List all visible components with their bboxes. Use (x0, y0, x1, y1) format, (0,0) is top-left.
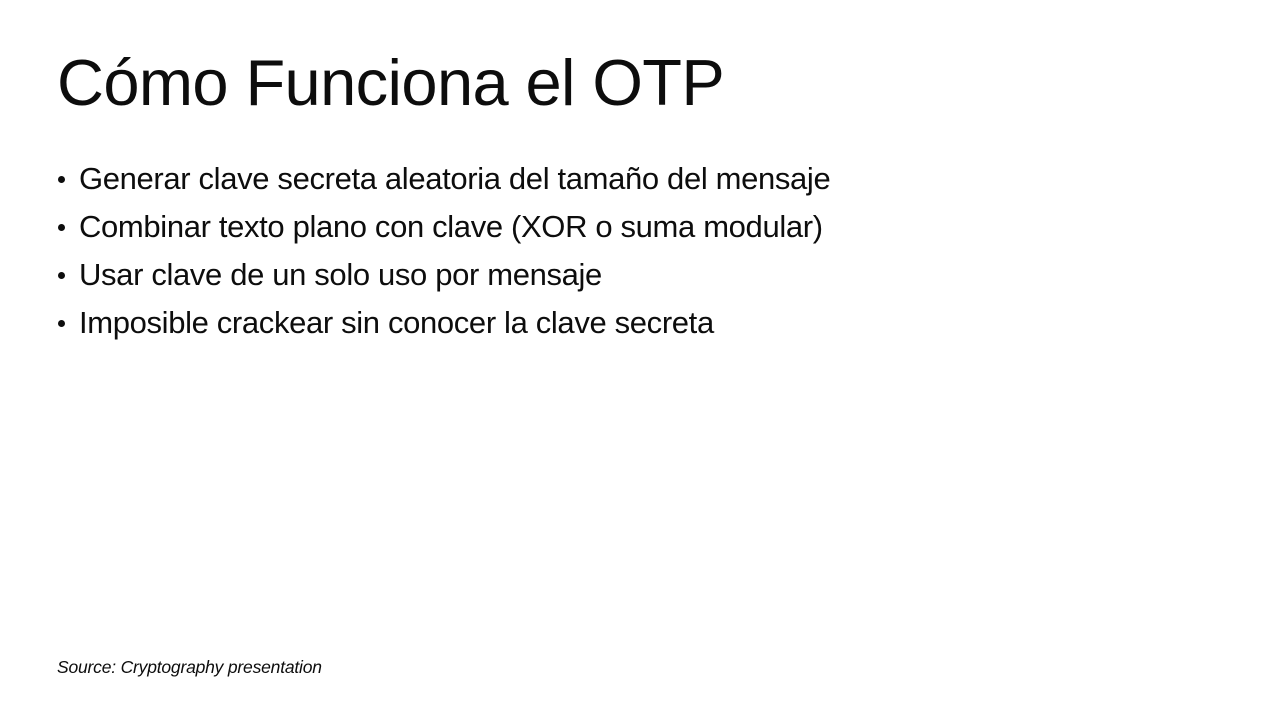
slide-title: Cómo Funciona el OTP (57, 50, 1217, 115)
source-note: Source: Cryptography presentation (57, 657, 322, 678)
list-item-label: Imposible crackear sin conocer la clave … (79, 305, 714, 340)
list-item-label: Generar clave secreta aleatoria del tama… (79, 161, 830, 196)
list-item-label: Combinar texto plano con clave (XOR o su… (79, 209, 823, 244)
list-item: Imposible crackear sin conocer la clave … (57, 299, 1227, 347)
bullet-point-icon (58, 320, 65, 327)
bullet-list: Generar clave secreta aleatoria del tama… (57, 155, 1227, 347)
list-item-label: Usar clave de un solo uso por mensaje (79, 257, 602, 292)
list-item: Combinar texto plano con clave (XOR o su… (57, 203, 1227, 251)
list-item: Usar clave de un solo uso por mensaje (57, 251, 1227, 299)
bullet-point-icon (58, 224, 65, 231)
bullet-point-icon (58, 176, 65, 183)
list-item: Generar clave secreta aleatoria del tama… (57, 155, 1227, 203)
presentation-slide: Cómo Funciona el OTP Generar clave secre… (0, 0, 1280, 720)
bullet-point-icon (58, 272, 65, 279)
